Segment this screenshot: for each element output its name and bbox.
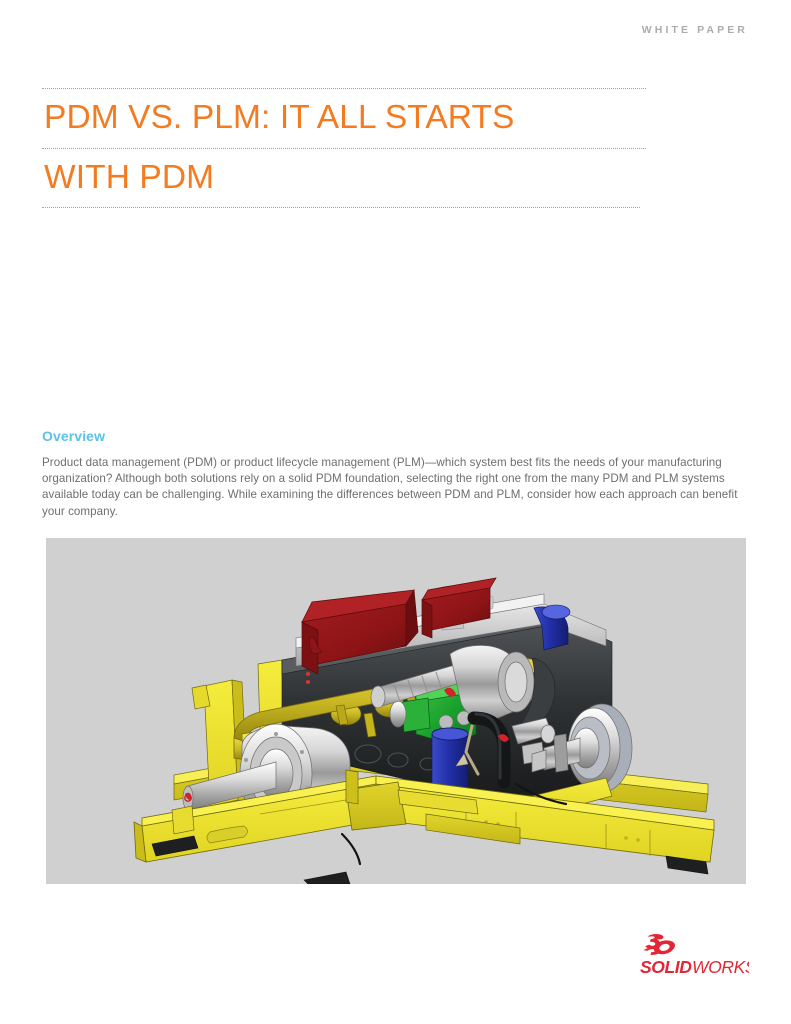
solidworks-logo: SOLID WORKS — [637, 930, 749, 982]
logo-wordmark-light: WORKS — [692, 957, 749, 977]
document-page: WHITE PAPER PDM VS. PLM: IT ALL STARTS W… — [0, 0, 791, 1024]
page-title-line-1: PDM VS. PLM: IT ALL STARTS — [42, 89, 646, 148]
solidworks-logo-svg: SOLID WORKS — [637, 930, 749, 982]
3ds-compass-icon — [644, 934, 675, 955]
section-heading-overview: Overview — [42, 428, 105, 444]
logo-wordmark-bold: SOLID — [640, 957, 692, 977]
overview-paragraph: Product data management (PDM) or product… — [42, 455, 748, 520]
title-rule-bottom — [42, 207, 640, 208]
title-block: PDM VS. PLM: IT ALL STARTS WITH PDM — [42, 88, 646, 208]
page-title-line-2: WITH PDM — [42, 149, 646, 208]
engine-assembly-illustration — [46, 538, 746, 884]
document-type-label: WHITE PAPER — [642, 24, 748, 36]
hero-image-engine-assembly — [46, 538, 746, 884]
